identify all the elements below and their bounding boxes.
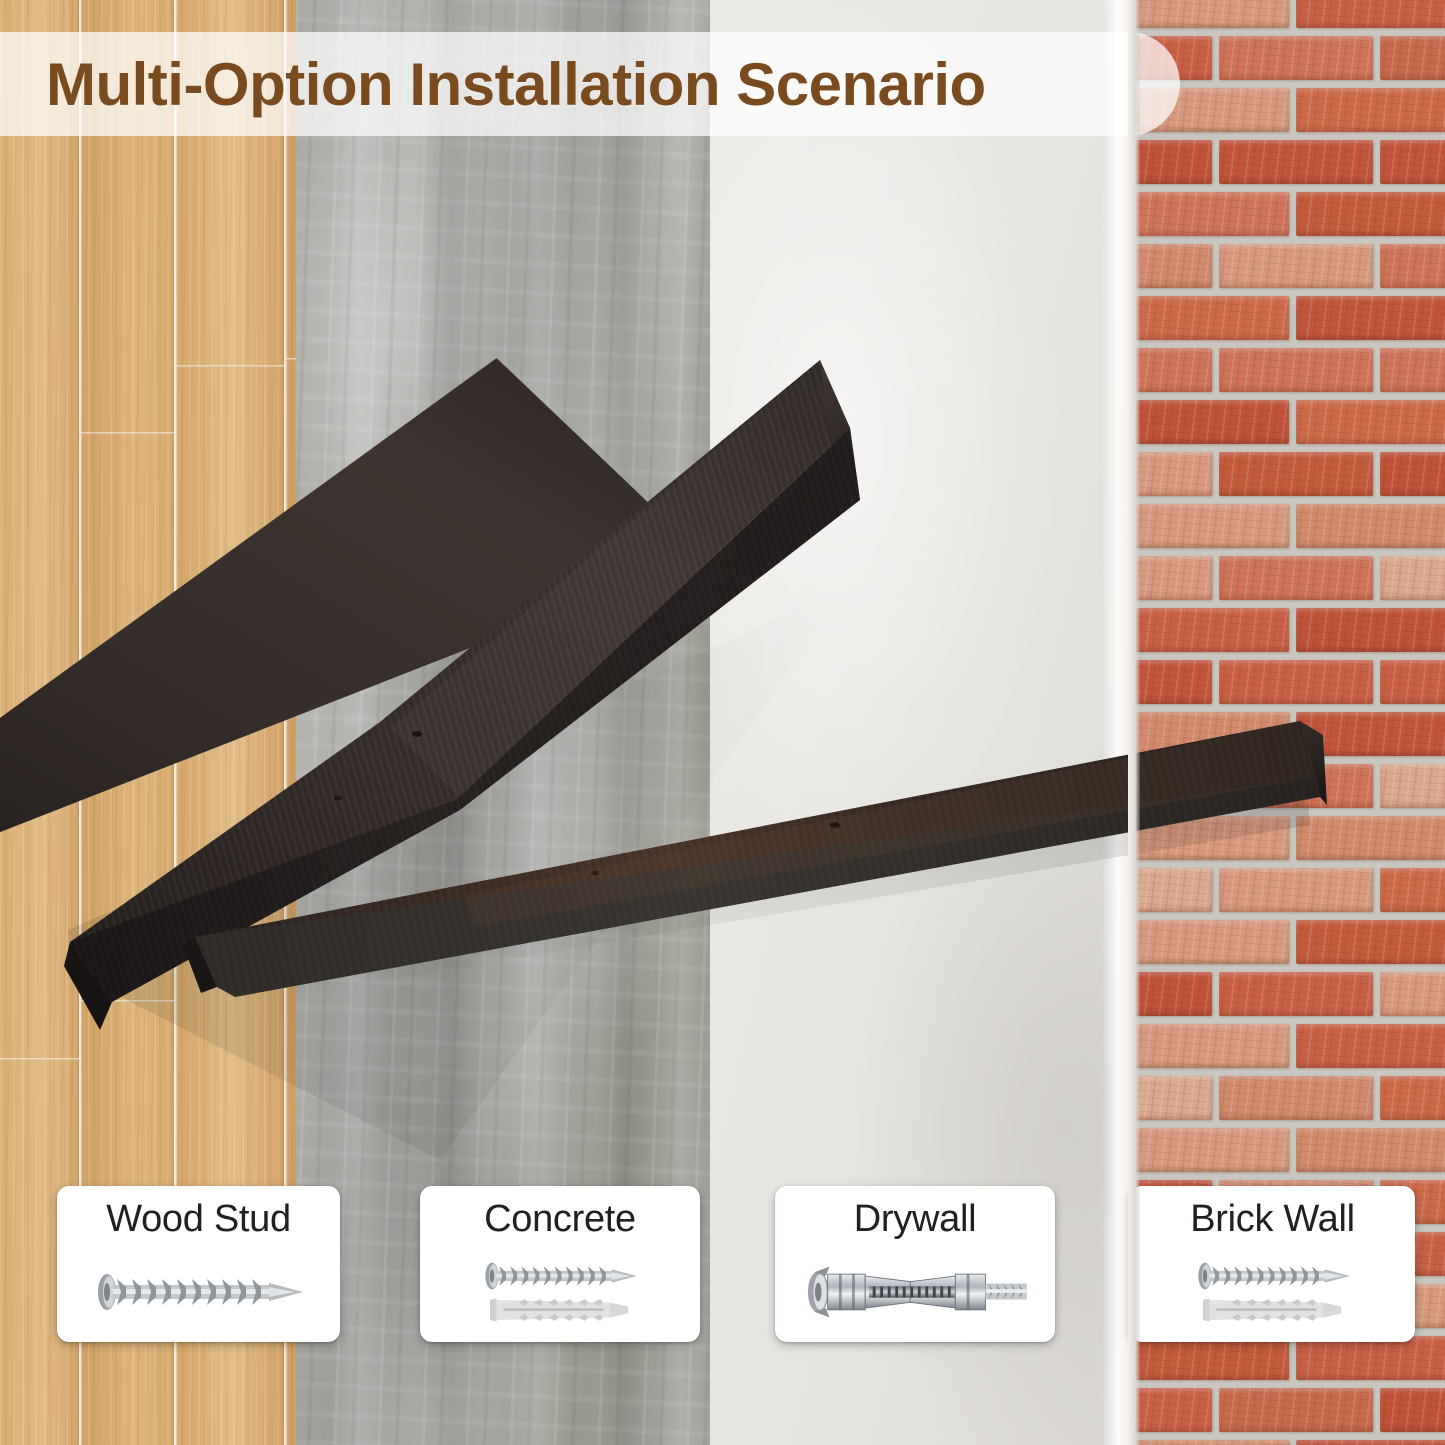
- brick: [1296, 296, 1445, 340]
- hardware-card-wood-stud[interactable]: Wood Stud: [57, 1186, 340, 1342]
- brick: [1296, 608, 1445, 652]
- brick: [1135, 1128, 1289, 1172]
- hardware-illustration-group: [420, 1241, 700, 1342]
- hardware-card-concrete[interactable]: Concrete: [420, 1186, 700, 1342]
- brick: [1219, 244, 1373, 288]
- brick: [1219, 348, 1373, 392]
- truss-head-wood-screw-icon: [89, 1269, 309, 1315]
- brick: [1296, 1440, 1445, 1445]
- brick: [1296, 192, 1445, 236]
- brick: [1296, 504, 1445, 548]
- product-image: Multi-Option Installation Scenario Wood …: [0, 0, 1445, 1445]
- brick: [1128, 1076, 1212, 1120]
- brick-course: [1128, 500, 1445, 552]
- brick: [1219, 1388, 1373, 1432]
- brick: [1135, 0, 1289, 28]
- hardware-illustration-group: [775, 1241, 1055, 1342]
- brick: [1219, 1076, 1373, 1120]
- brick-course: [1128, 396, 1445, 448]
- brick: [1296, 0, 1445, 28]
- brick-course: [1128, 1072, 1445, 1124]
- brick: [1380, 764, 1445, 808]
- brick: [1128, 1388, 1212, 1432]
- truss-head-wood-screw-icon: [1173, 1259, 1373, 1293]
- brick: [1380, 36, 1445, 80]
- brick: [1128, 244, 1212, 288]
- brick: [1380, 244, 1445, 288]
- upper-shelf: [60, 330, 840, 630]
- title-banner: Multi-Option Installation Scenario: [0, 32, 1180, 136]
- brick-course: [1128, 188, 1445, 240]
- brick: [1128, 660, 1212, 704]
- brick: [1380, 1388, 1445, 1432]
- brick-course: [1128, 136, 1445, 188]
- brick-course: [1128, 1436, 1445, 1445]
- card-label: Drywall: [854, 1198, 976, 1241]
- brick: [1135, 608, 1289, 652]
- brick-course: [1128, 344, 1445, 396]
- brick-course: [1128, 292, 1445, 344]
- brick: [1135, 1024, 1289, 1068]
- brick: [1296, 400, 1445, 444]
- brick: [1380, 868, 1445, 912]
- brick-course: [1128, 240, 1445, 292]
- brick: [1135, 400, 1289, 444]
- brick: [1128, 556, 1212, 600]
- brick: [1135, 296, 1289, 340]
- brick: [1380, 556, 1445, 600]
- card-label: Brick Wall: [1190, 1198, 1354, 1241]
- brick: [1296, 1024, 1445, 1068]
- brick: [1380, 1076, 1445, 1120]
- hardware-illustration-group: [1130, 1241, 1415, 1342]
- brick: [1380, 140, 1445, 184]
- plastic-wall-anchor-icon: [485, 1295, 635, 1325]
- wood-plank-butt-joint: [0, 1058, 80, 1061]
- brick: [1296, 88, 1445, 132]
- truss-head-wood-screw-icon: [460, 1259, 660, 1293]
- brick: [1219, 36, 1373, 80]
- brick: [1135, 504, 1289, 548]
- brick: [1380, 348, 1445, 392]
- brick: [1219, 556, 1373, 600]
- brick: [1135, 1336, 1289, 1380]
- plastic-wall-anchor-icon: [1198, 1295, 1348, 1325]
- brick-course: [1128, 0, 1445, 32]
- brick: [1128, 140, 1212, 184]
- brick-course: [1128, 1020, 1445, 1072]
- brick: [1128, 348, 1212, 392]
- brick-corner-edge: [1128, 0, 1140, 1445]
- brick: [1219, 660, 1373, 704]
- card-label: Wood Stud: [106, 1198, 291, 1241]
- brick: [1296, 1336, 1445, 1380]
- hardware-card-brick-wall[interactable]: Brick Wall: [1130, 1186, 1415, 1342]
- brick-course: [1128, 656, 1445, 708]
- hardware-card-drywall[interactable]: Drywall: [775, 1186, 1055, 1342]
- brick: [1135, 1440, 1289, 1445]
- hardware-illustration-group: [57, 1241, 340, 1342]
- brick: [1380, 972, 1445, 1016]
- brick-course: [1128, 1124, 1445, 1176]
- brick-course: [1128, 1384, 1445, 1436]
- brick: [1135, 192, 1289, 236]
- brick: [1128, 452, 1212, 496]
- brick: [1380, 452, 1445, 496]
- brick-course: [1128, 552, 1445, 604]
- lower-shelf: [175, 705, 1325, 1005]
- brick: [1219, 140, 1373, 184]
- hollow-wall-molly-bolt-icon: [796, 1261, 1034, 1323]
- brick: [1219, 452, 1373, 496]
- brick: [1296, 1128, 1445, 1172]
- brick: [1380, 660, 1445, 704]
- page-title: Multi-Option Installation Scenario: [0, 50, 986, 119]
- brick-course: [1128, 604, 1445, 656]
- card-label: Concrete: [484, 1198, 636, 1241]
- brick-course: [1128, 448, 1445, 500]
